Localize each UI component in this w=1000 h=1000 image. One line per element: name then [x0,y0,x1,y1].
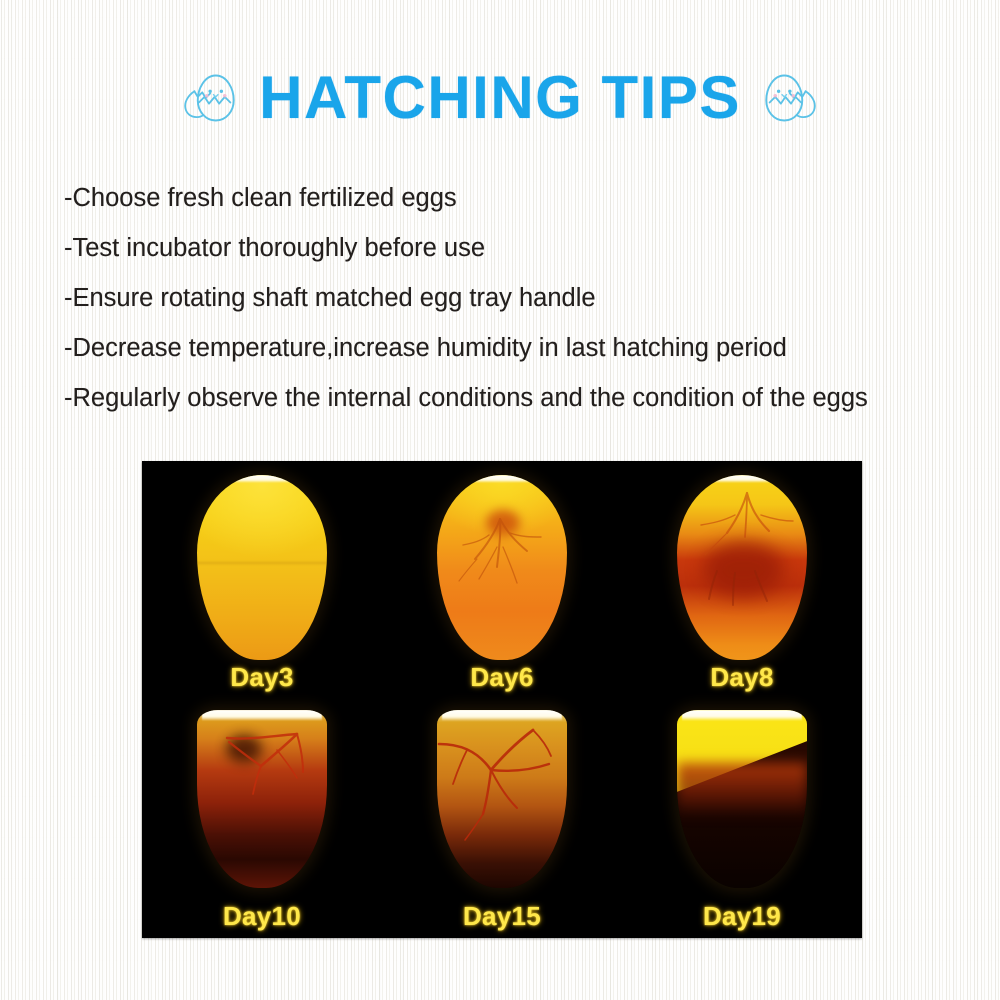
egg-veins [437,710,567,888]
tip-item: -Ensure rotating shaft matched egg tray … [64,286,1000,312]
egg-day-label: Day8 [622,662,862,693]
hatching-egg-chick-icon-left [173,62,245,134]
egg-day-label: Day3 [142,662,382,693]
tip-item: -Test incubator thoroughly before use [64,236,1000,262]
egg-veins [437,475,567,660]
egg-silhouette-day19 [677,710,807,888]
tip-item: -Choose fresh clean fertilized eggs [64,186,1000,212]
egg-silhouette-day6 [437,475,567,660]
page-title: HATCHING TIPS [259,68,741,128]
egg-body [197,475,327,660]
egg-day-label: Day10 [142,901,382,932]
egg-stage-cell: Day19 [622,700,862,938]
egg-day-label: Day19 [622,901,862,932]
egg-veins [677,475,807,660]
egg-air-cell [447,475,556,483]
egg-yolk-line [197,562,327,564]
tip-item: -Decrease temperature,increase humidity … [64,336,1000,362]
egg-silhouette-day3 [197,475,327,660]
egg-embryo-mass [677,763,807,816]
egg-silhouette-day10 [197,710,327,888]
egg-stage-cell: Day15 [382,700,622,938]
egg-day-label: Day15 [382,901,622,932]
egg-stage-cell: Day3 [142,461,382,699]
egg-candling-photo: Day3 [142,461,862,938]
egg-silhouette-day15 [437,710,567,888]
egg-stage-cell: Day8 [622,461,862,699]
egg-air-cell [442,710,562,721]
egg-day-label: Day6 [382,662,622,693]
egg-air-cell [687,475,796,483]
hatching-egg-chick-icon-right [755,62,827,134]
egg-veins [197,710,327,888]
tip-item: -Regularly observe the internal conditio… [64,386,1000,412]
egg-air-cell [682,710,802,721]
egg-stage-cell: Day6 [382,461,622,699]
egg-stage-cell: Day10 [142,700,382,938]
tips-list: -Choose fresh clean fertilized eggs -Tes… [64,186,1000,436]
egg-air-cell [207,475,316,483]
header: HATCHING TIPS [0,62,1000,134]
egg-stage-grid: Day3 [142,461,862,938]
egg-air-cell [202,710,322,721]
egg-silhouette-day8 [677,475,807,660]
